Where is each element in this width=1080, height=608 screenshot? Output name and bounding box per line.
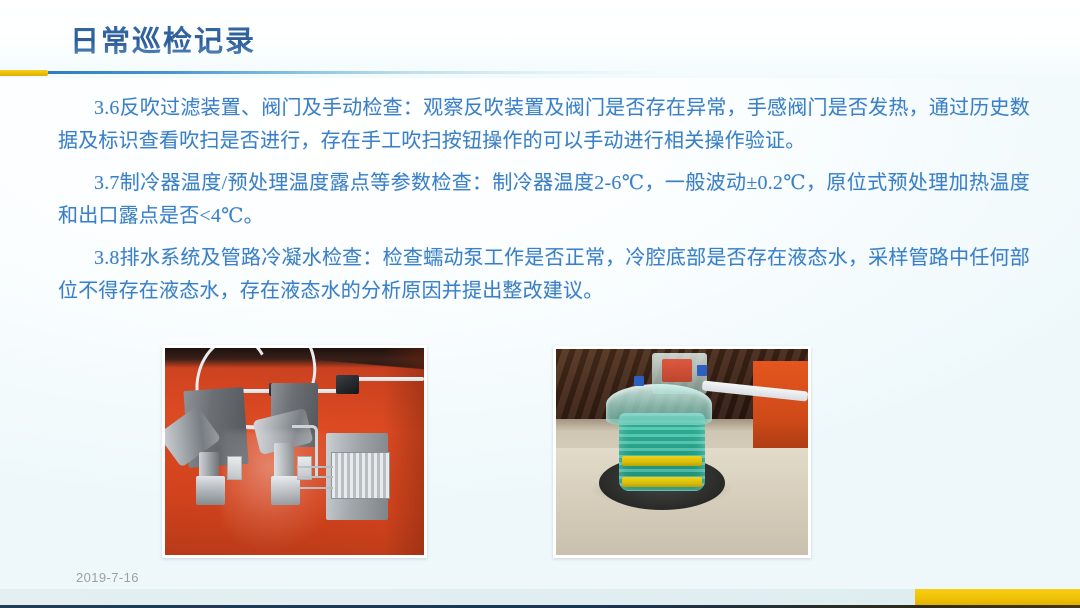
orange-cabinet-edge xyxy=(753,361,808,456)
slide-date: 2019-7-16 xyxy=(76,570,139,585)
page-title: 日常巡检记录 xyxy=(70,18,256,60)
valve-panel-photo xyxy=(162,345,427,558)
yellow-tube-band-1 xyxy=(622,456,703,466)
valve-panel-photo-image xyxy=(165,348,424,555)
presentation-slide: 日常巡检记录 3.6反吹过滤装置、阀门及手动检查：观察反吹装置及阀门是否存在异常… xyxy=(0,0,1080,608)
peristaltic-pump-photo-image xyxy=(556,349,808,555)
paragraph-3-8: 3.8排水系统及管路冷凝水检查：检查蠕动泵工作是否正常，冷腔底部是否存在液态水，… xyxy=(58,242,1030,308)
blue-marker-left xyxy=(634,376,644,386)
divider-yellow-accent xyxy=(0,70,48,76)
peristaltic-pump-photo xyxy=(553,346,811,558)
blue-marker-right xyxy=(697,365,707,375)
header-divider xyxy=(0,70,1080,76)
slide-header: 日常巡检记录 xyxy=(0,0,1080,78)
panel-gloss-highlight xyxy=(222,431,341,551)
paragraph-3-7: 3.7制冷器温度/预处理温度露点等参数检查：制冷器温度2-6℃，一般波动±0.2… xyxy=(58,167,1030,233)
slide-body: 3.6反吹过滤装置、阀门及手动检查：观察反吹装置及阀门是否存在异常，手感阀门是否… xyxy=(58,92,1030,317)
footer-yellow-accent xyxy=(915,589,1080,605)
red-indicator xyxy=(662,359,692,382)
yellow-tube-band-2 xyxy=(622,477,703,487)
paragraph-3-6: 3.6反吹过滤装置、阀门及手动检查：观察反吹装置及阀门是否存在异常，手感阀门是否… xyxy=(58,92,1030,158)
black-fitting-right xyxy=(336,375,359,394)
divider-blue-rule xyxy=(48,71,1080,74)
valve-fitting-left xyxy=(196,476,224,505)
